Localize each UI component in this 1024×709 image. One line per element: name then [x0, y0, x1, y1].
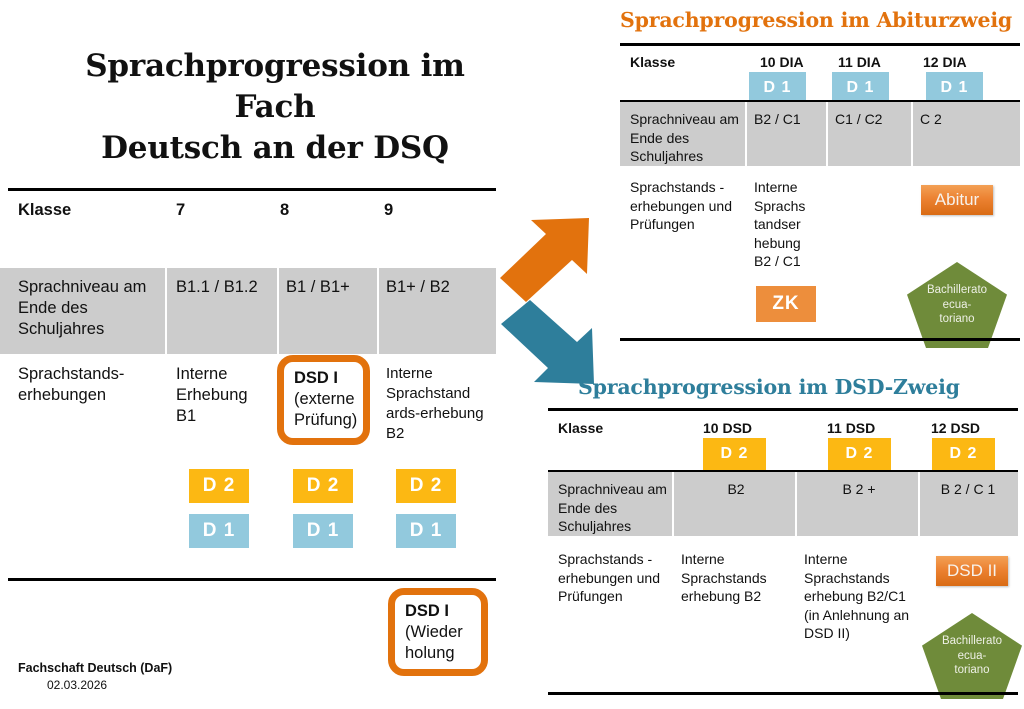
abitur-niveau-value-11dia: C1 / C2 — [835, 110, 905, 129]
callout-dsd1-external-line2: Prüfung) — [294, 411, 357, 429]
abitur-row-divider-1 — [745, 102, 747, 166]
dsd-top-rule — [548, 408, 1018, 411]
callout-dsd1-external-line1: (externe — [294, 390, 355, 408]
dsd-pruefung-label: Sprachstands -erhebungen und Prüfungen — [558, 550, 660, 606]
dsd-bachillerato-line1: Bachillerato — [942, 634, 1002, 649]
abitur-niveau-label: Sprachniveau am Ende des Schuljahres — [630, 110, 740, 166]
dsd-niveau-label: Sprachniveau am Ende des Schuljahres — [558, 480, 668, 536]
dsd-pruefung-value-10dsd: Interne Sprachstands erhebung B2 — [681, 550, 789, 606]
left-row-niveau-value-8: B1 / B1+ — [286, 277, 381, 298]
abitur-header-col-11dia: 11 DIA — [838, 54, 881, 70]
page-title-line-2: Deutsch an der DSQ — [40, 128, 510, 169]
abitur-top-rule — [620, 43, 1020, 46]
footer-date: 02.03.2026 — [47, 678, 107, 692]
callout-dsd1-external-title: DSD I — [294, 369, 338, 387]
page-title-line-1: Sprachprogression im Fach — [40, 46, 510, 128]
abitur-row-divider-2 — [826, 102, 828, 166]
left-table-header-grade-9: 9 — [384, 200, 393, 221]
dsd-niveau-value-11dsd: B 2 + — [804, 480, 914, 499]
dsd-row-divider-2 — [795, 472, 797, 536]
abitur-bottom-rule — [620, 338, 1020, 341]
dsd-pruefung-value-11dsd: Interne Sprachstands erhebung B2/C1 (in … — [804, 550, 912, 643]
dsd-bachillerato-line2: ecua- — [958, 649, 987, 664]
abitur-bachillerato-line3: toriano — [939, 312, 974, 327]
left-row-niveau-label: Sprachniveau am Ende des Schuljahres — [18, 277, 163, 340]
callout-dsd1-external[interactable]: DSD I (externe Prüfung) — [277, 355, 370, 445]
abitur-niveau-value-10dia: B2 / C1 — [754, 110, 824, 129]
dsd-bachillerato-pentagon: Bachillerato ecua- toriano — [922, 613, 1022, 699]
badge-d2-grade7: D 2 — [189, 469, 249, 503]
dsd-badge-d2-12dsd: D 2 — [932, 438, 995, 470]
dsd-header-col-11dsd: 11 DSD — [827, 420, 875, 436]
dsd-header-col-10dsd: 10 DSD — [703, 420, 752, 436]
badge-d1-grade9: D 1 — [396, 514, 456, 548]
left-row-niveau-value-7: B1.1 / B1.2 — [176, 277, 276, 298]
dsd-badge-d2-10dsd: D 2 — [703, 438, 766, 470]
badge-d1-grade7: D 1 — [189, 514, 249, 548]
callout-dsd1-repeat-title: DSD I — [405, 602, 449, 620]
abitur-bachillerato-pentagon: Bachillerato ecua- toriano — [907, 262, 1007, 348]
arrow-up-right-icon — [495, 215, 625, 305]
abitur-header-col-10dia: 10 DIA — [760, 54, 804, 70]
left-row-erhebung-value-9: Interne Sprachstand ards-erhebung B2 — [386, 364, 486, 444]
abitur-header-klasse: Klasse — [630, 54, 675, 70]
left-table-header-grade-7: 7 — [176, 200, 185, 221]
abitur-bachillerato-line1: Bachillerato — [927, 283, 987, 298]
callout-dsd1-repeat[interactable]: DSD I (Wieder holung — [388, 588, 488, 676]
dsd-bachillerato-line3: toriano — [954, 663, 989, 678]
abitur-bachillerato-line2: ecua- — [943, 298, 972, 313]
abitur-pruefung-label: Sprachstands -erhebungen und Prüfungen — [630, 178, 732, 234]
dsd-header-klasse: Klasse — [558, 420, 603, 436]
dsd-row-divider-1 — [672, 472, 674, 536]
dsd-niveau-value-10dsd: B2 — [681, 480, 791, 499]
badge-d1-grade8: D 1 — [293, 514, 353, 548]
abitur-pruefung-value: Interne Sprachs tandser hebung B2 / C1 — [754, 178, 820, 271]
dsd-section-title: Sprachprogression im DSD-Zweig — [578, 375, 960, 399]
left-table-header-klasse: Klasse — [18, 200, 71, 221]
abitur-zk-badge: ZK — [756, 286, 816, 322]
badge-d2-grade9: D 2 — [396, 469, 456, 503]
left-row-divider-1 — [165, 268, 167, 354]
dsd2-pill: DSD II — [936, 556, 1008, 586]
footer-department: Fachschaft Deutsch (DaF) — [18, 661, 172, 675]
callout-dsd1-repeat-line2: holung — [405, 644, 455, 662]
page-title: Sprachprogression im Fach Deutsch an der… — [40, 46, 510, 169]
abitur-niveau-value-12dia: C 2 — [920, 110, 990, 129]
dsd-niveau-value-12dsd: B 2 / C 1 — [922, 480, 1014, 499]
left-table-header-grade-8: 8 — [280, 200, 289, 221]
dsd-row-divider-3 — [918, 472, 920, 536]
abitur-section-title: Sprachprogression im Abiturzweig — [620, 8, 1012, 32]
left-row-niveau-value-9: B1+ / B2 — [386, 277, 491, 298]
left-row-erhebung-label: Sprachstands-erhebungen — [18, 364, 168, 406]
abitur-pill: Abitur — [921, 185, 993, 215]
dsd-badge-d2-11dsd: D 2 — [828, 438, 891, 470]
left-row-divider-2 — [277, 268, 279, 354]
arrow-down-right-icon — [495, 295, 630, 385]
dsd-bottom-rule — [548, 692, 1018, 695]
left-table-bottom-rule — [8, 578, 496, 581]
left-table-top-rule — [8, 188, 496, 191]
left-row-erhebung-value-7: Interne Erhebung B1 — [176, 364, 272, 427]
dsd-header-col-12dsd: 12 DSD — [931, 420, 980, 436]
abitur-header-col-12dia: 12 DIA — [923, 54, 967, 70]
callout-dsd1-repeat-line1: (Wieder — [405, 623, 463, 641]
abitur-row-divider-3 — [911, 102, 913, 166]
badge-d2-grade8: D 2 — [293, 469, 353, 503]
